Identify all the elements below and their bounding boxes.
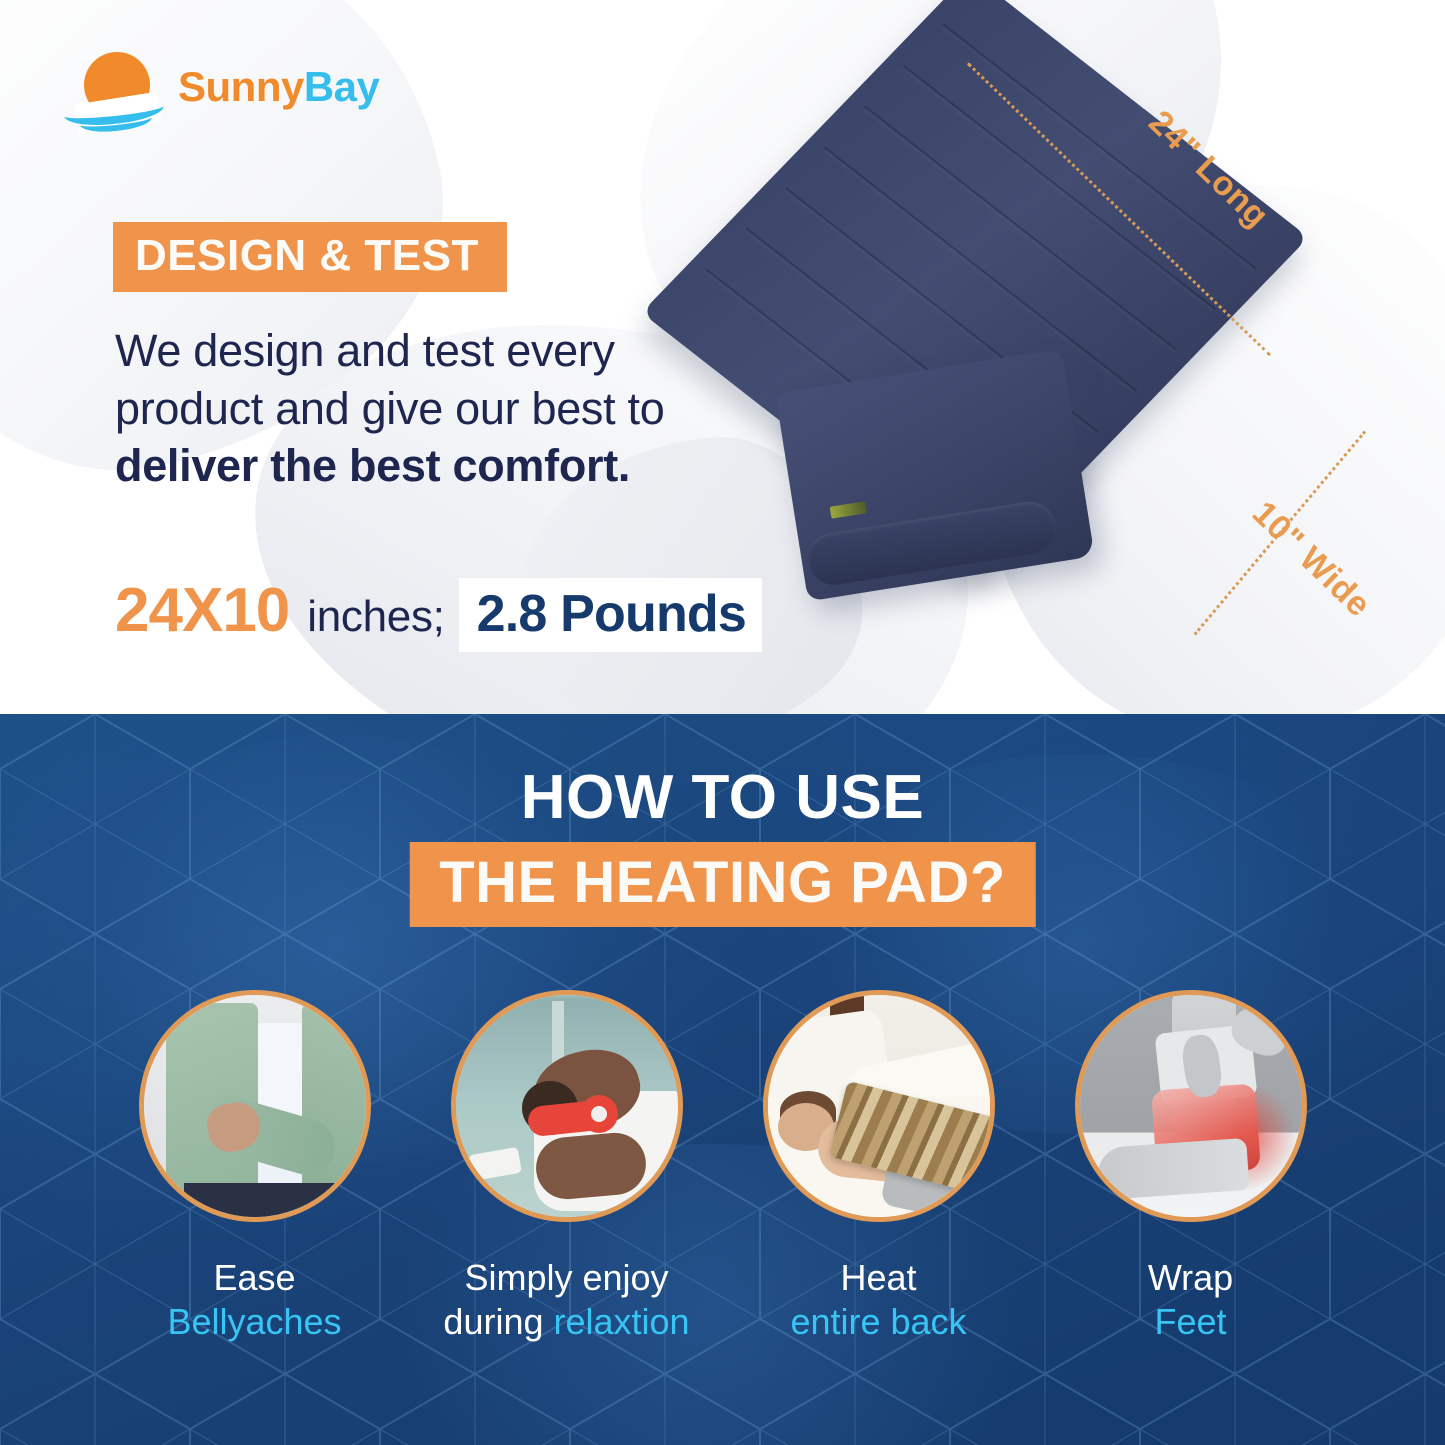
use-case-line2: Bellyaches [167,1300,341,1344]
use-case-list: Ease Bellyaches Simply enjoy during rela… [0,990,1445,1344]
use-case-caption: Wrap Feet [1148,1256,1233,1344]
use-case-caption: Ease Bellyaches [167,1256,341,1344]
design-description: We design and test every product and giv… [115,322,715,495]
use-case-line2: during relaxtion [443,1300,689,1344]
use-case-line1: Heat [790,1256,966,1300]
use-case-line2: Feet [1148,1300,1233,1344]
infographic-page: SunnyBay DESIGN & TEST We design and tes… [0,0,1445,1445]
spec-unit-label: inches; [307,592,444,642]
sun-icon [62,48,166,126]
how-to-use-subtitle-banner: THE HEATING PAD? [409,842,1036,927]
use-case-photo-relaxation [451,990,683,1222]
how-to-use-subtitle: THE HEATING PAD? [439,850,1006,915]
spec-dimensions: 24X10 [115,575,289,646]
heating-pad-photo [760,40,1360,560]
use-case-photo-entire-back [763,990,995,1222]
spec-weight: 2.8 Pounds [477,585,746,643]
product-specs: 24X10 inches; 2.8 Pounds [115,575,762,652]
use-case-item: Simply enjoy during relaxtion [442,990,692,1344]
how-to-use-title: HOW TO USE [0,762,1445,833]
design-and-test-banner: DESIGN & TEST [113,222,507,292]
brand-logo: SunnyBay [62,48,379,126]
use-case-photo-feet [1075,990,1307,1222]
use-case-photo-bellyaches [139,990,371,1222]
use-case-line2-accent: Bellyaches [167,1301,341,1342]
brand-name-part1: Sunny [178,63,304,110]
use-case-item: Wrap Feet [1066,990,1316,1344]
use-case-line2-accent: relaxtion [554,1301,690,1342]
brand-tag-icon [830,501,867,518]
spec-weight-highlight: 2.8 Pounds [459,578,762,652]
design-description-plain: We design and test every product and giv… [115,325,664,434]
use-case-line2: entire back [790,1300,966,1344]
brand-name-part2: Bay [304,63,380,110]
use-case-item: Ease Bellyaches [130,990,380,1344]
use-case-caption: Heat entire back [790,1256,966,1344]
brand-wordmark: SunnyBay [178,63,379,111]
design-and-test-label: DESIGN & TEST [135,231,479,280]
use-case-line2-white: during [443,1301,553,1342]
use-case-caption: Simply enjoy during relaxtion [443,1256,689,1344]
how-to-use-section: HOW TO USE THE HEATING PAD? Ease Bellyac… [0,714,1445,1445]
use-case-item: Heat entire back [754,990,1004,1344]
use-case-line1: Ease [167,1256,341,1300]
design-and-test-section: SunnyBay DESIGN & TEST We design and tes… [0,0,1445,714]
use-case-line2-accent: entire back [790,1301,966,1342]
use-case-line2-accent: Feet [1154,1301,1226,1342]
use-case-line1: Simply enjoy [443,1256,689,1300]
design-description-bold: deliver the best comfort. [115,440,630,491]
use-case-line1: Wrap [1148,1256,1233,1300]
heating-pad-folded [775,349,1094,602]
